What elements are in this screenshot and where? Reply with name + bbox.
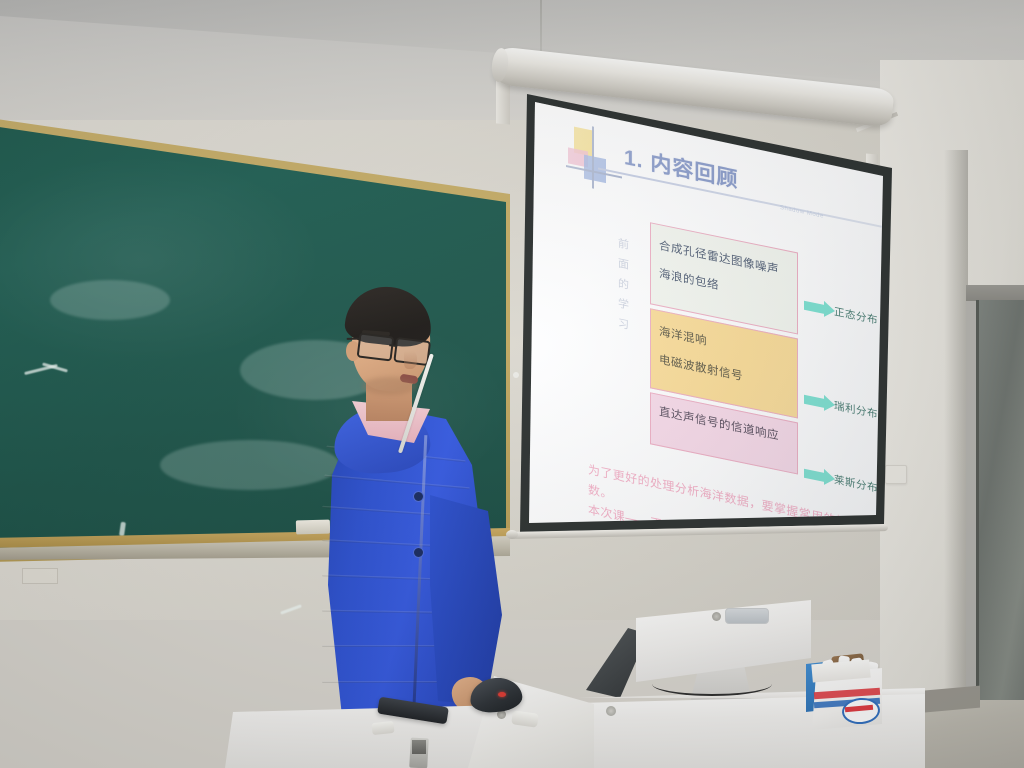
presenter	[300, 285, 515, 735]
eyeglass-temple	[347, 338, 361, 340]
classroom-photo: 1. 内容回顾 Shadow Mode 前 面 的 学 习 合成孔径雷达图像噪声…	[0, 0, 1024, 768]
pointer-stick-tip	[513, 372, 519, 378]
slide-arrow-label: 瑞利分布	[834, 398, 878, 422]
slide-arrow-row: 瑞利分布	[804, 392, 878, 422]
classroom-door[interactable]	[976, 300, 1024, 720]
slide-arrow-label: 正态分布	[834, 304, 878, 328]
slide-watermark: Shadow Mode	[780, 205, 824, 220]
wall-outlet-plate	[22, 568, 58, 584]
slide-title-number: 1.	[624, 146, 644, 173]
jacket-snap-button	[413, 491, 424, 502]
right-arrow-icon	[804, 301, 826, 315]
nose	[404, 351, 417, 369]
slide-vertical-label: 前 面 的 学 习	[616, 233, 632, 336]
pillar-shadow	[944, 150, 968, 710]
monitor-screw	[712, 612, 721, 621]
monitor-port	[725, 608, 769, 624]
chalk-stick[interactable]	[371, 721, 394, 735]
right-arm	[430, 495, 502, 705]
slide-title-underline	[598, 168, 888, 229]
deco-vertical-line	[592, 126, 594, 188]
light-switch[interactable]	[885, 465, 907, 484]
vertical-char: 习	[616, 313, 632, 336]
podium-screw	[606, 706, 616, 716]
chalk-smudge	[50, 280, 170, 320]
door-header	[966, 285, 1024, 301]
slide-arrow-row: 莱斯分布	[804, 466, 878, 496]
slide-title-text: 内容回顾	[650, 151, 738, 192]
slide-arrow-label: 莱斯分布	[834, 472, 878, 496]
slide-arrow-row: 正态分布	[804, 298, 878, 328]
right-arrow-icon	[804, 469, 826, 483]
jacket-snap-button	[413, 547, 424, 558]
chin-shadow	[362, 377, 418, 395]
slide-decoration-icon	[568, 125, 624, 192]
slide-box-column: 合成孔径雷达图像噪声 海浪的包络 海洋混响 电磁波散射信号 直达声信号的信道响应	[650, 222, 798, 478]
right-arrow-icon	[804, 395, 826, 409]
eyeglass-lens-left	[357, 332, 395, 361]
monitor-cable	[652, 672, 772, 696]
mouse-indicator-light	[498, 692, 506, 697]
usb-connector	[412, 740, 426, 754]
